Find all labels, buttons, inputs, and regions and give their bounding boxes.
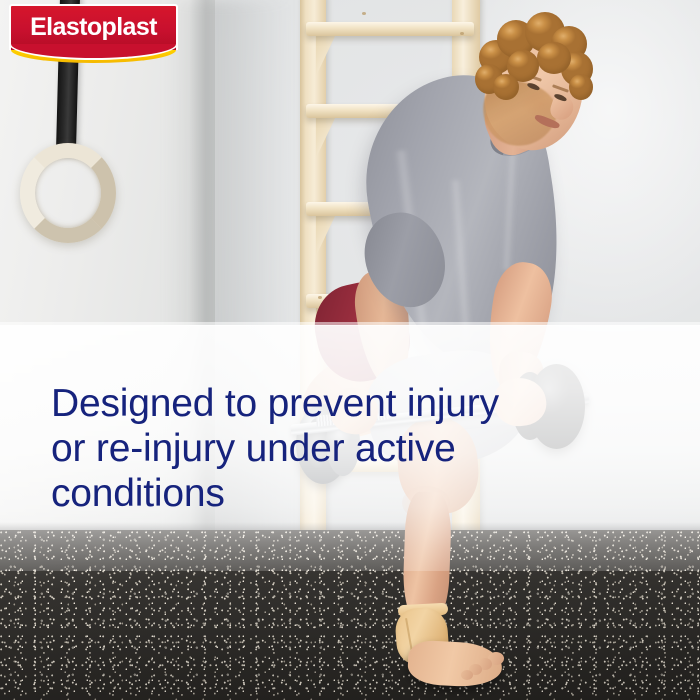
headline-line-2: or re-injury under active: [51, 426, 571, 471]
headline-line-1: Designed to prevent injury: [51, 381, 571, 426]
headline-line-3: conditions: [51, 471, 571, 516]
promo-banner: Designed to prevent injury or re-injury …: [0, 0, 700, 700]
toes: [458, 650, 510, 684]
elastoplast-logo[interactable]: Elastoplast: [9, 4, 178, 62]
logo-wordmark: Elastoplast: [9, 4, 178, 50]
curly-hair: [473, 12, 595, 104]
headline: Designed to prevent injury or re-injury …: [51, 381, 571, 516]
